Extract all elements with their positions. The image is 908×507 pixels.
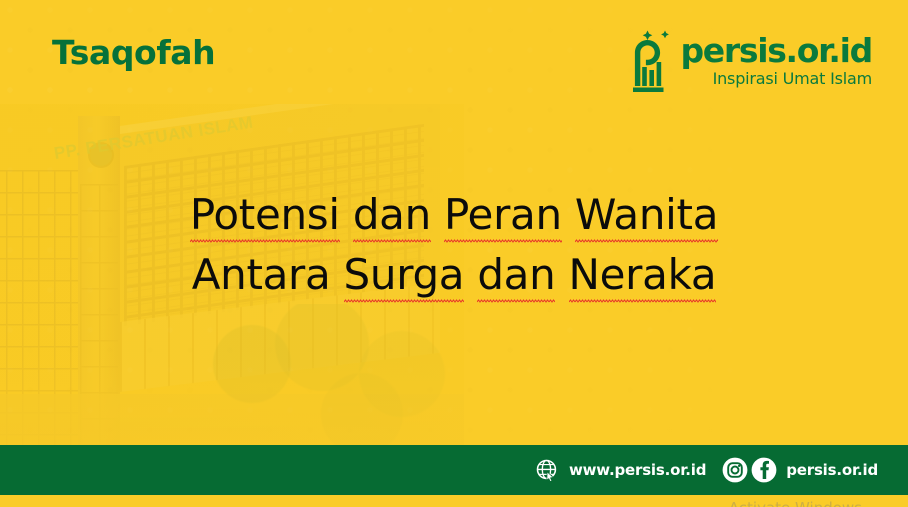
facebook-icon[interactable]: [751, 457, 777, 483]
headline-word: Potensi: [190, 190, 340, 244]
footer-social-label: persis.or.id: [786, 461, 878, 479]
footer-social-icons: [722, 457, 777, 483]
headline-word: dan: [477, 250, 555, 304]
globe-icon: [535, 458, 560, 483]
brand-logo: persis.or.id Inspirasi Umat Islam: [627, 30, 872, 92]
persis-mosque-logo-icon: [627, 30, 671, 92]
headline-line-1: Potensi dan Peran Wanita: [0, 185, 908, 245]
slide-headline: Potensi dan Peran Wanita Antara Surga da…: [0, 185, 908, 304]
slide-footer-bar: www.persis.or.id persis.or.id: [0, 445, 908, 495]
logo-tagline: Inspirasi Umat Islam: [713, 71, 872, 87]
logo-text-block: persis.or.id Inspirasi Umat Islam: [680, 30, 872, 87]
headline-word: Peran: [444, 190, 562, 244]
logo-wordmark: persis.or.id: [680, 34, 872, 67]
instagram-icon[interactable]: [722, 457, 748, 483]
footer-website-label: www.persis.or.id: [569, 461, 706, 479]
headline-line-2: Antara Surga dan Neraka: [0, 245, 908, 305]
slide-kicker-title: Tsaqofah: [52, 36, 215, 69]
headline-word: Surga: [344, 250, 465, 304]
headline-word: dan: [353, 190, 431, 244]
footer-website-group[interactable]: www.persis.or.id: [535, 458, 706, 483]
slide-canvas: PP. PERSATUAN ISLAM Tsaqofah persis.or.i…: [0, 0, 908, 507]
headline-word: Neraka: [569, 250, 717, 304]
footer-social-group[interactable]: persis.or.id: [722, 457, 878, 483]
headline-word: Antara: [192, 250, 331, 299]
headline-word: Wanita: [575, 190, 718, 244]
